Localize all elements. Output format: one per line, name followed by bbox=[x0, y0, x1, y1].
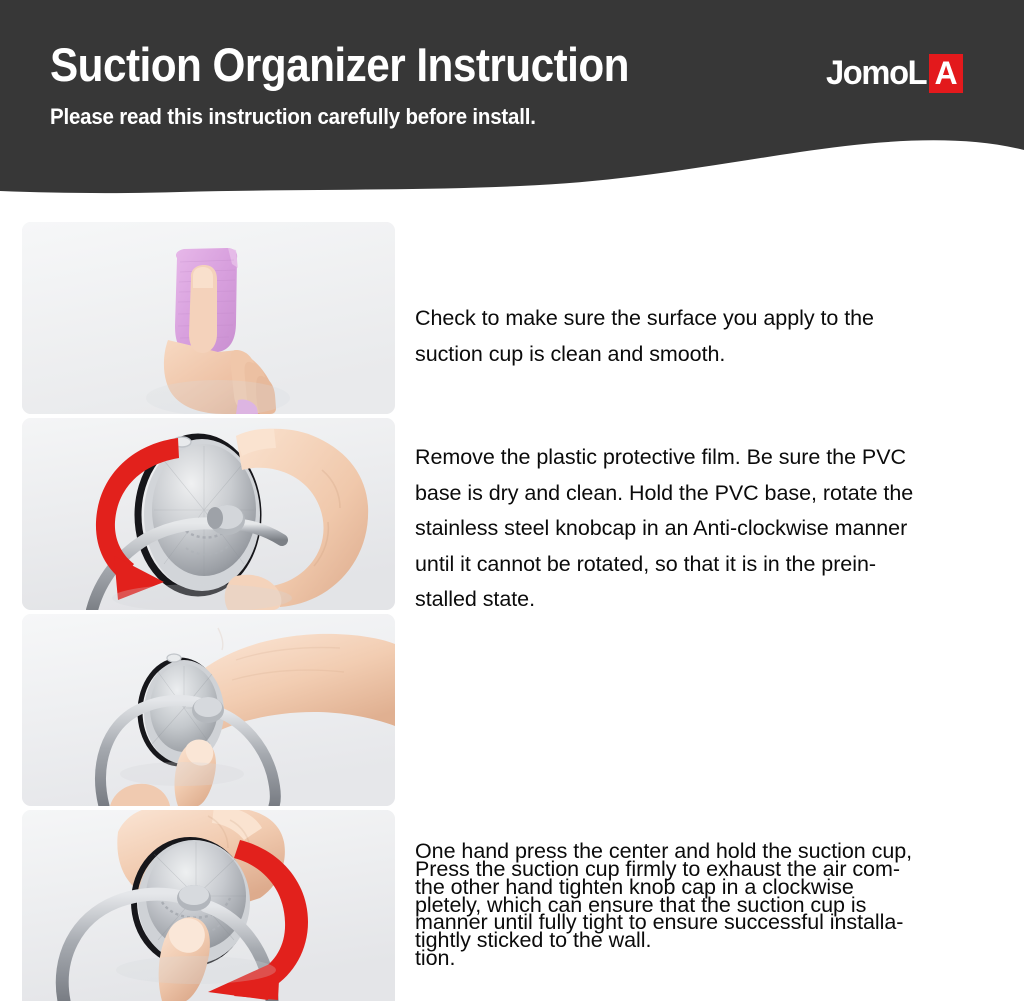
step-item: Press the suction cup firmly to exhaust … bbox=[0, 614, 1024, 810]
step-item: Remove the plastic protective film. Be s… bbox=[0, 418, 1024, 614]
page-subtitle: Please read this instruction carefully b… bbox=[50, 106, 536, 128]
illustration-rotate-knobcap-anticlockwise bbox=[22, 418, 395, 610]
illustration-press-suction-cup bbox=[22, 614, 395, 806]
step-image-1 bbox=[22, 222, 395, 414]
illustration-tighten-knob-clockwise bbox=[22, 810, 395, 1001]
brand-logo: JomoL A bbox=[826, 54, 963, 92]
step-image-2 bbox=[22, 418, 395, 610]
step-text-4: One hand press the center and hold the s… bbox=[415, 834, 1015, 976]
instruction-sheet: Suction Organizer Instruction Please rea… bbox=[0, 0, 1024, 1001]
step-item: Check to make sure the surface you apply… bbox=[0, 222, 1024, 418]
step-text-1: Check to make sure the surface you apply… bbox=[415, 301, 1015, 372]
logo-badge-letter: A bbox=[929, 54, 962, 93]
logo-wordmark: JomoL bbox=[826, 56, 926, 90]
step-text-2: Remove the plastic protective film. Be s… bbox=[415, 440, 1015, 618]
page-title: Suction Organizer Instruction bbox=[50, 41, 629, 88]
step-image-4 bbox=[22, 810, 395, 1001]
step-item: One hand press the center and hold the s… bbox=[0, 810, 1024, 1001]
header-banner: Suction Organizer Instruction Please rea… bbox=[0, 0, 1024, 205]
illustration-wiping-wall bbox=[22, 222, 395, 414]
step-image-3 bbox=[22, 614, 395, 806]
